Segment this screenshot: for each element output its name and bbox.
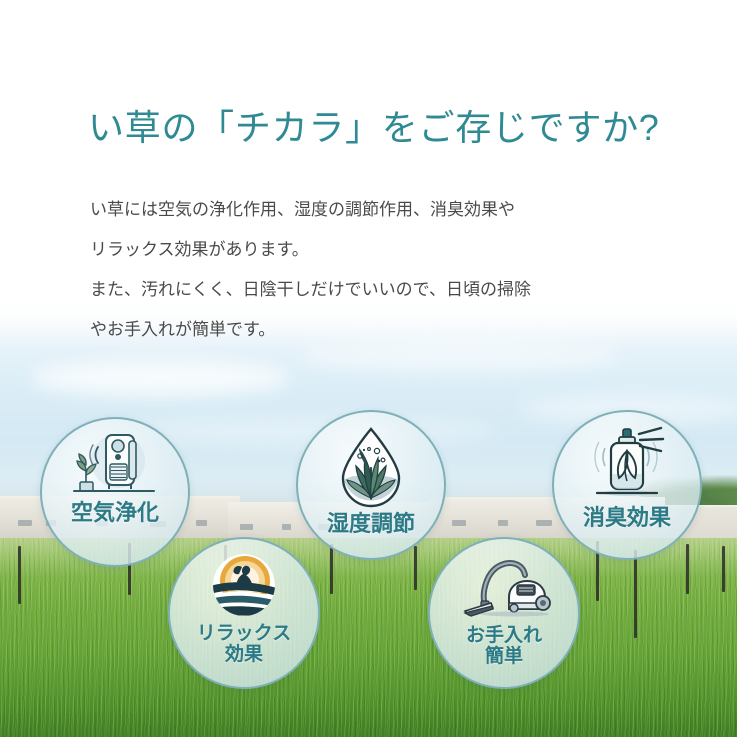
body-line-3: また、汚れにくく、日陰干しだけでいいので、日頃の掃除 — [90, 270, 680, 310]
badge-label-line-1: お手入れ — [466, 625, 542, 646]
air-purifier-icon — [72, 431, 158, 497]
field-post — [414, 546, 417, 590]
field-post — [686, 544, 689, 594]
body-copy: い草には空気の浄化作用、湿度の調節作用、消臭効果や リラックス効果があります。 … — [90, 190, 680, 350]
badge-humidity-control[interactable]: 湿度調節 — [296, 410, 446, 560]
building-window — [18, 520, 32, 526]
badge-relaxation[interactable]: リラックス 効果 — [168, 537, 320, 689]
relaxing-person-waves-icon — [204, 553, 284, 617]
building-window — [452, 520, 466, 526]
badge-label: 湿度調節 — [327, 512, 415, 537]
badge-label: 消臭効果 — [583, 506, 671, 531]
field-post — [18, 546, 21, 604]
badge-label-line-2: 効果 — [225, 644, 263, 665]
badge-label: リラックス 効果 — [197, 623, 291, 666]
field-post — [722, 546, 725, 592]
building-window — [536, 520, 552, 526]
vacuum-cleaner-icon — [457, 555, 551, 617]
page-title: い草の「チカラ」をご存じですか? — [88, 104, 688, 153]
building-window — [196, 520, 207, 526]
building-window — [240, 524, 253, 530]
badge-label: 空気浄化 — [71, 501, 159, 526]
spray-bottle-leaf-icon — [583, 426, 671, 502]
water-droplet-grass-icon — [333, 426, 409, 508]
badge-deodorizing[interactable]: 消臭効果 — [552, 410, 702, 560]
badge-air-purification[interactable]: 空気浄化 — [40, 417, 190, 567]
grass-field — [0, 538, 737, 737]
body-line-2: リラックス効果があります。 — [90, 230, 680, 270]
field-post — [634, 550, 637, 638]
badge-label-line-1: リラックス — [197, 623, 291, 644]
badge-easy-care[interactable]: お手入れ 簡単 — [428, 537, 580, 689]
building-window — [282, 524, 291, 530]
field-post — [330, 544, 333, 594]
promo-banner: い草の「チカラ」をご存じですか? い草には空気の浄化作用、湿度の調節作用、消臭効… — [0, 0, 737, 737]
badge-label: お手入れ 簡単 — [466, 625, 542, 668]
body-line-4: やお手入れが簡単です。 — [90, 310, 680, 350]
body-line-1: い草には空気の浄化作用、湿度の調節作用、消臭効果や — [90, 190, 680, 230]
badge-label-line-2: 簡単 — [485, 646, 523, 667]
building-window — [498, 520, 508, 526]
cloud — [30, 360, 290, 396]
